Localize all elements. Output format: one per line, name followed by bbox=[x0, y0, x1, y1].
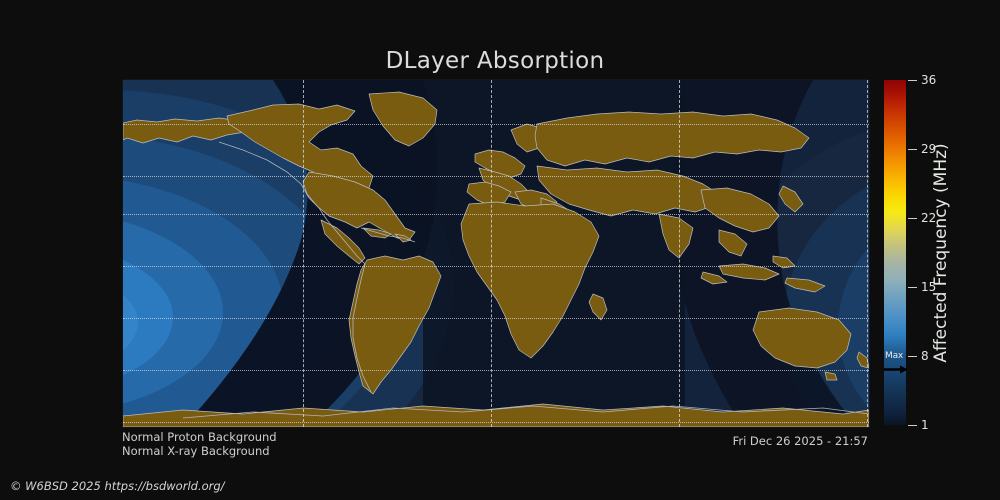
gridline-lat-66 bbox=[123, 124, 869, 125]
gridline-lon-90 bbox=[679, 80, 680, 427]
coastline-layer bbox=[123, 80, 869, 427]
max-marker-label: Max bbox=[885, 351, 903, 361]
colorbar-tick-1 bbox=[908, 425, 917, 426]
gridline-lat-46 bbox=[123, 176, 869, 177]
max-arrow-icon bbox=[884, 365, 908, 374]
gridline-lon-0 bbox=[491, 80, 492, 427]
page-title: DLayer Absorption bbox=[0, 48, 990, 74]
colorbar-tick-15 bbox=[908, 287, 917, 288]
gridline-lat--23 bbox=[123, 318, 869, 319]
colorbar-tick-29 bbox=[908, 149, 917, 150]
chart-canvas: DLayer Absorption bbox=[0, 0, 1000, 500]
timestamp: Fri Dec 26 2025 - 21:57 bbox=[733, 434, 868, 448]
gridline-lat-0 bbox=[123, 266, 869, 267]
max-marker: Max bbox=[884, 351, 910, 377]
gridline-lon-180 bbox=[867, 80, 868, 427]
colorbar-label-8: 8 bbox=[921, 349, 929, 363]
colorbar-tick-36 bbox=[908, 80, 917, 81]
colorbar-label-1: 1 bbox=[921, 418, 929, 432]
gridline-lat-23 bbox=[123, 214, 869, 215]
colorbar-tick-22 bbox=[908, 218, 917, 219]
gridline-lat--66 bbox=[123, 422, 869, 423]
xray-background-note: Normal X-ray Background bbox=[122, 444, 270, 458]
gridline-lat--46 bbox=[123, 370, 869, 371]
world-map-plot[interactable] bbox=[122, 79, 870, 428]
proton-background-note: Normal Proton Background bbox=[122, 430, 277, 444]
gridline-lon--90 bbox=[303, 80, 304, 427]
copyright-notice: © W6BSD 2025 https://bsdworld.org/ bbox=[10, 479, 225, 493]
colorbar-axis-label: Affected Frequency (MHz) bbox=[931, 78, 953, 428]
